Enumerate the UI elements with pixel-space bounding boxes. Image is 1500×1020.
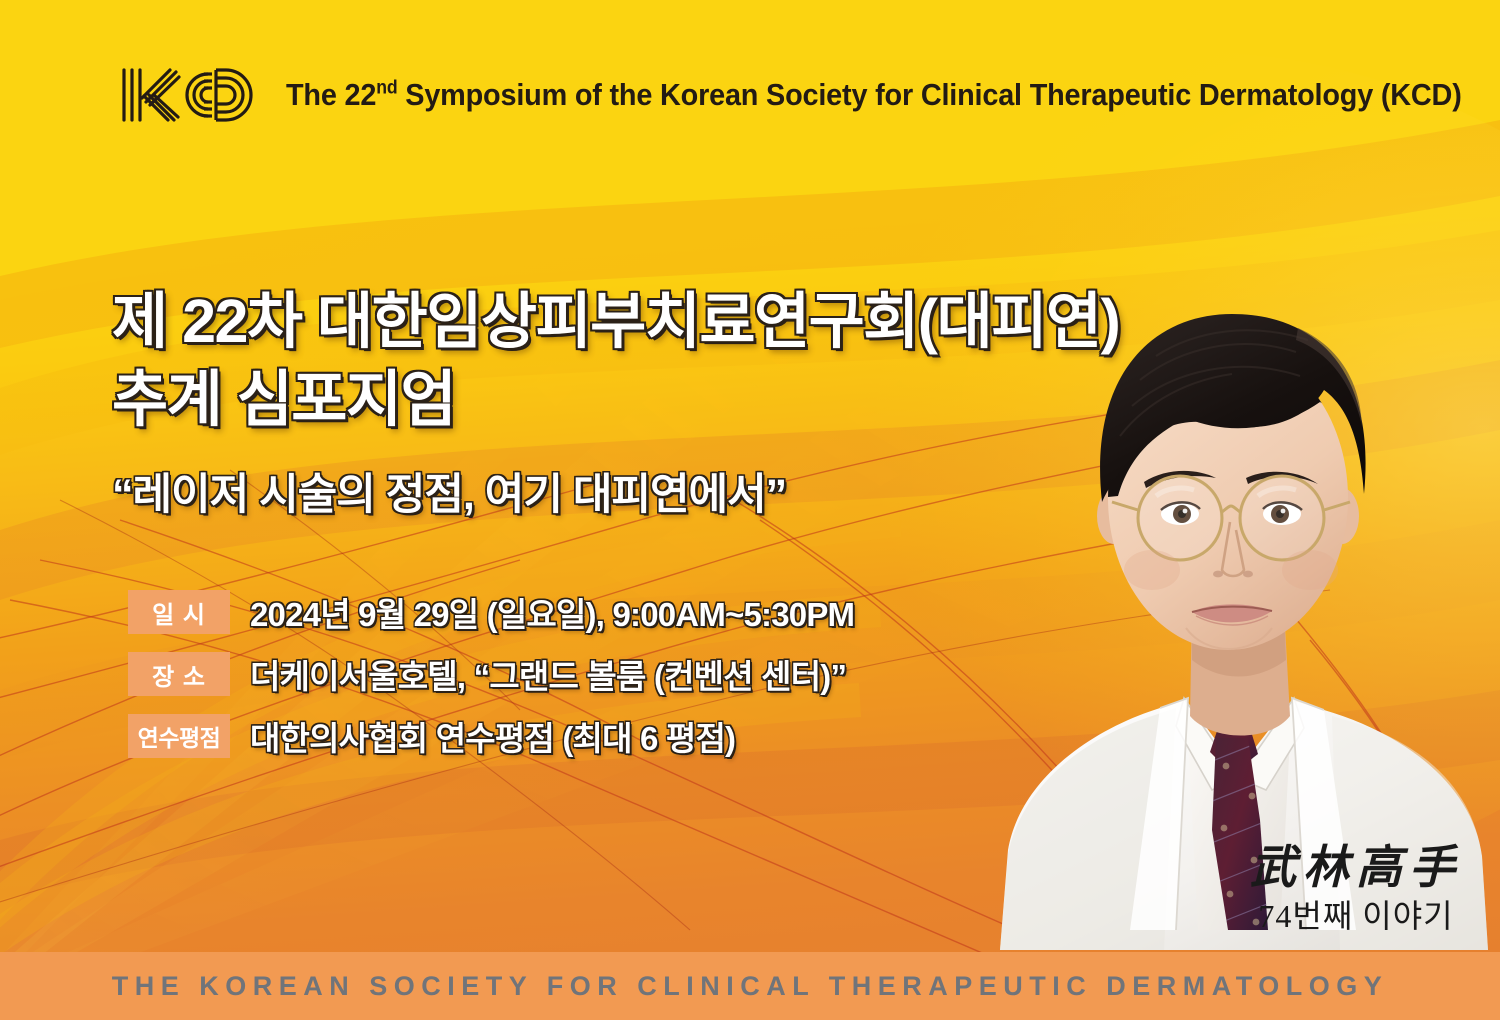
main-subtitle: “레이저 시술의 정점, 여기 대피연에서” <box>112 460 1119 522</box>
info-value-venue: 더케이서울호텔, “그랜드 볼룸 (컨벤션 센터)” <box>250 650 846 698</box>
kcd-logo-icon <box>116 62 268 128</box>
calligraphy-block: 武林高手 74번째 이야기 <box>1250 844 1462 932</box>
poster-header: The 22nd Symposium of the Korean Society… <box>116 62 1500 128</box>
header-title-pre: The <box>286 77 345 112</box>
info-label-credits: 연수평점 <box>128 714 230 758</box>
main-title-line-2: 추계 심포지엄 <box>112 360 1119 438</box>
footer-bar: THE KOREAN SOCIETY FOR CLINICAL THERAPEU… <box>0 952 1500 1020</box>
poster-canvas: The 22nd Symposium of the Korean Society… <box>0 0 1500 1020</box>
info-row-credits: 연수평점 대한의사협회 연수평점 (최대 6 평점) <box>128 712 854 760</box>
info-value-date: 2024년 9월 29일 (일요일), 9:00AM~5:30PM <box>250 588 854 636</box>
main-title-line-1: 제 22차 대한임상피부치료연구회(대피연) <box>112 282 1119 360</box>
main-title-block: 제 22차 대한임상피부치료연구회(대피연) 추계 심포지엄 “레이저 시술의 … <box>112 282 1119 522</box>
info-label-venue: 장 소 <box>128 652 230 696</box>
info-label-date: 일 시 <box>128 590 230 634</box>
event-info-block: 일 시 2024년 9월 29일 (일요일), 9:00AM~5:30PM 장 … <box>128 588 854 774</box>
calligraphy-subtitle: 74번째 이야기 <box>1250 900 1462 932</box>
header-title-ordinal: nd <box>376 78 397 99</box>
header-title-post: Symposium of the Korean Society for Clin… <box>397 77 1461 112</box>
info-row-date: 일 시 2024년 9월 29일 (일요일), 9:00AM~5:30PM <box>128 588 854 636</box>
calligraphy-title: 武林高手 <box>1250 844 1462 890</box>
header-title-number: 22 <box>345 77 377 112</box>
footer-text: THE KOREAN SOCIETY FOR CLINICAL THERAPEU… <box>112 971 1389 1002</box>
header-title: The 22nd Symposium of the Korean Society… <box>286 77 1462 113</box>
info-value-credits: 대한의사협회 연수평점 (최대 6 평점) <box>250 712 735 760</box>
info-row-venue: 장 소 더케이서울호텔, “그랜드 볼룸 (컨벤션 센터)” <box>128 650 854 698</box>
